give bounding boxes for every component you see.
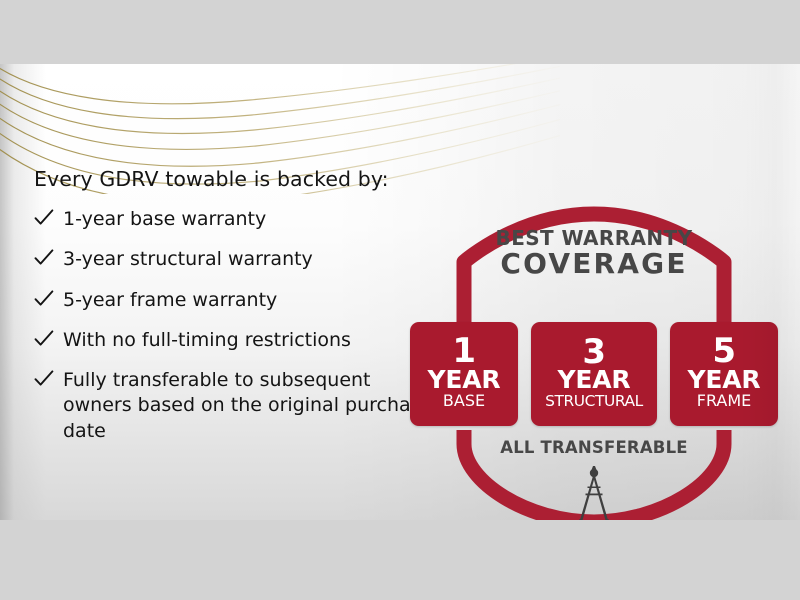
list-item-label: With no full-timing restrictions [63,328,351,353]
check-icon [34,249,56,267]
card-unit: YEAR [558,367,631,392]
card-kind: FRAME [697,393,752,410]
badge-footer-label: ALL TRANSFERABLE [398,440,790,457]
warranty-card-base[interactable]: 1 YEAR BASE [410,322,518,426]
check-icon [34,330,56,348]
card-kind: BASE [443,393,485,410]
content-panel: Every GDRV towable is backed by: 1-year … [0,64,800,520]
card-number: 3 [582,337,605,368]
check-icon [34,370,56,388]
warranty-bullet-list: 1-year base warranty 3-year structural w… [34,207,434,444]
list-item: 3-year structural warranty [34,247,434,272]
list-item-label: 5-year frame warranty [63,288,277,313]
list-item-label: 1-year base warranty [63,207,266,232]
badge-title-line1: BEST WARRANTY [398,228,790,248]
list-item-label: Fully transferable to subsequent owners … [63,368,434,444]
slide-canvas: Every GDRV towable is backed by: 1-year … [0,0,800,600]
card-unit: YEAR [688,367,761,392]
check-icon [34,209,56,227]
card-number: 5 [712,336,735,367]
list-item: Fully transferable to subsequent owners … [34,368,434,444]
warranty-card-frame[interactable]: 5 YEAR FRAME [670,322,778,426]
check-icon [34,290,56,308]
warranty-card-structural[interactable]: 3 YEAR STRUCTURAL [531,322,657,426]
warranty-cards-row: 1 YEAR BASE 3 YEAR STRUCTURAL 5 YEAR FRA… [410,322,778,426]
list-item: With no full-timing restrictions [34,328,434,353]
badge-title-line2: COVERAGE [398,250,790,278]
card-number: 1 [452,336,475,367]
warranty-text-column: Every GDRV towable is backed by: 1-year … [34,167,434,444]
page-title: Every GDRV towable is backed by: [34,167,434,191]
card-kind: STRUCTURAL [545,393,643,409]
list-item: 1-year base warranty [34,207,434,232]
compass-icon [574,466,614,520]
list-item: 5-year frame warranty [34,288,434,313]
warranty-shield-badge: BEST WARRANTY COVERAGE 1 YEAR BASE 3 YEA… [398,162,790,520]
list-item-label: 3-year structural warranty [63,247,313,272]
card-unit: YEAR [428,367,501,392]
